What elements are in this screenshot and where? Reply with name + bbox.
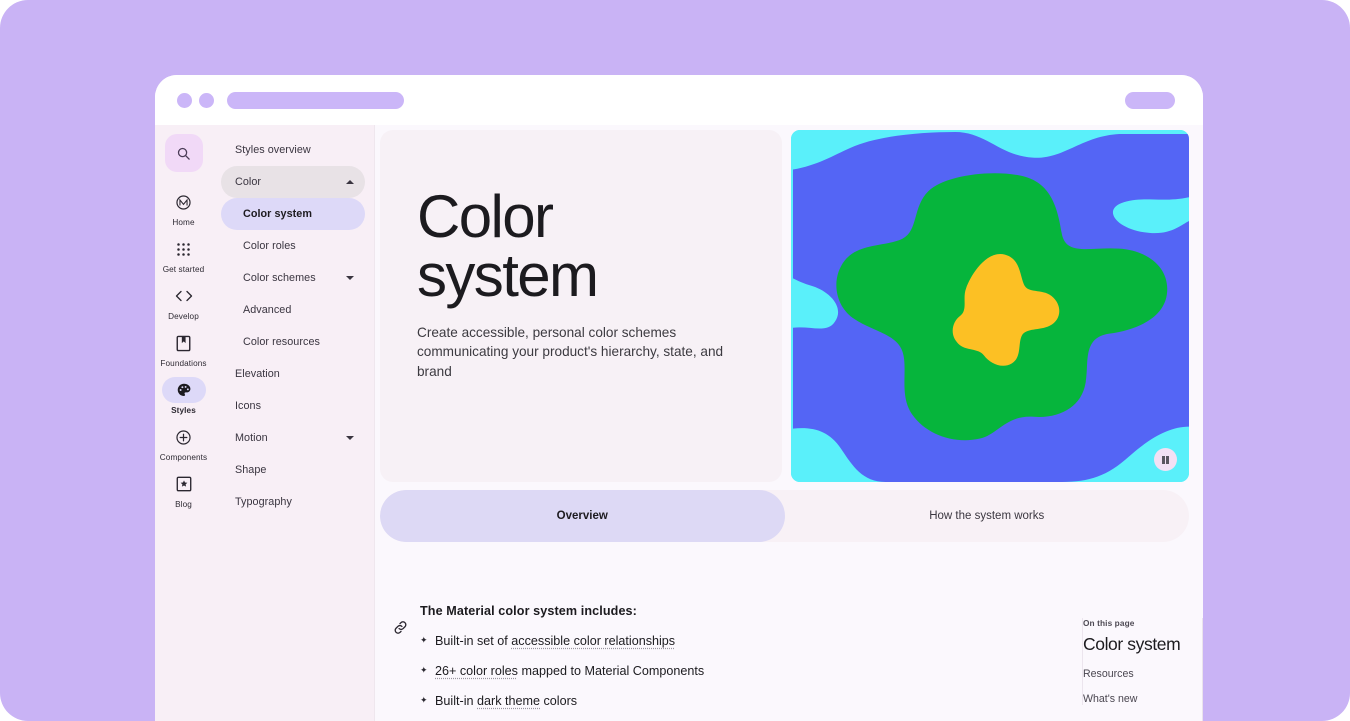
nav-item-color-roles[interactable]: Color roles bbox=[221, 230, 365, 262]
nav-item-color-system[interactable]: Color system bbox=[221, 198, 365, 230]
window-dot-2[interactable] bbox=[199, 93, 214, 108]
nav-item-color-schemes[interactable]: Color schemes bbox=[221, 262, 365, 294]
list-item-text: Built-in dark theme colors bbox=[435, 694, 577, 708]
nav-item-motion[interactable]: Motion bbox=[221, 422, 365, 454]
on-this-page-divider bbox=[1202, 618, 1203, 721]
star-square-icon bbox=[162, 471, 206, 497]
on-this-page-panel: On this page Color system Resources What… bbox=[1082, 618, 1189, 705]
app-body: Home Get started bbox=[155, 125, 1203, 721]
pause-icon bbox=[1161, 452, 1169, 467]
bullet-pre: Built-in bbox=[435, 694, 477, 708]
anchor-link-column bbox=[380, 600, 420, 708]
chevron-down-icon bbox=[346, 276, 354, 280]
rail-label-blog: Blog bbox=[175, 500, 192, 509]
chrome-right-pill[interactable] bbox=[1125, 92, 1175, 109]
bookmark-book-icon bbox=[162, 330, 206, 356]
nav-label: Typography bbox=[235, 496, 292, 508]
nav-item-shape[interactable]: Shape bbox=[221, 454, 365, 486]
bullet-post: colors bbox=[540, 694, 577, 708]
page-subtitle: Create accessible, personal color scheme… bbox=[417, 323, 729, 382]
bullet-link[interactable]: dark theme bbox=[477, 694, 540, 708]
rail-label-home: Home bbox=[172, 218, 194, 227]
plus-circle-icon bbox=[162, 424, 206, 450]
nav-item-typography[interactable]: Typography bbox=[221, 486, 365, 518]
code-brackets-icon bbox=[162, 283, 206, 309]
nav-label: Shape bbox=[235, 464, 266, 476]
rail-item-blog[interactable]: Blog bbox=[157, 471, 210, 509]
nav-label: Motion bbox=[235, 432, 268, 444]
bullet-link[interactable]: 26+ color roles bbox=[435, 664, 518, 678]
tab-label: Overview bbox=[557, 510, 608, 522]
blob-illustration bbox=[791, 130, 1189, 482]
rail-label-get-started: Get started bbox=[163, 265, 205, 274]
chevron-up-icon bbox=[346, 180, 354, 184]
nav-item-advanced[interactable]: Advanced bbox=[221, 294, 365, 326]
chevron-down-icon bbox=[346, 436, 354, 440]
nav-label: Color system bbox=[243, 208, 312, 220]
tab-overview[interactable]: Overview bbox=[380, 490, 785, 542]
nav-label: Color schemes bbox=[243, 272, 316, 284]
rail-item-home[interactable]: Home bbox=[157, 189, 210, 227]
nav-item-elevation[interactable]: Elevation bbox=[221, 358, 365, 390]
page-title-line-1: Color bbox=[417, 183, 552, 250]
rail-label-styles: Styles bbox=[171, 406, 196, 415]
search-icon bbox=[176, 146, 191, 161]
on-this-page-link-whats-new[interactable]: What's new bbox=[1083, 693, 1189, 705]
nav-item-icons[interactable]: Icons bbox=[221, 390, 365, 422]
bullet-marker: ✦ bbox=[420, 634, 435, 648]
bullet-pre: Built-in set of bbox=[435, 634, 511, 648]
hero-illustration bbox=[791, 130, 1189, 482]
pause-button[interactable] bbox=[1154, 448, 1177, 471]
rail-label-develop: Develop bbox=[168, 312, 199, 321]
tab-bar: Overview How the system works bbox=[380, 490, 1189, 542]
nav-label: Icons bbox=[235, 400, 261, 412]
page-title: Color system bbox=[417, 188, 782, 306]
rail-item-get-started[interactable]: Get started bbox=[157, 236, 210, 274]
tab-how-the-system-works[interactable]: How the system works bbox=[785, 490, 1190, 542]
browser-window: Home Get started bbox=[155, 75, 1203, 721]
list-item-text: 26+ color roles mapped to Material Compo… bbox=[435, 664, 704, 678]
rail-item-components[interactable]: Components bbox=[157, 424, 210, 462]
browser-chrome bbox=[155, 75, 1203, 125]
nav-label: Color bbox=[235, 176, 261, 188]
link-icon[interactable] bbox=[392, 619, 409, 636]
navigation-rail: Home Get started bbox=[155, 125, 212, 721]
main-content: Color system Create accessible, personal… bbox=[375, 125, 1203, 721]
list-item: ✦ 26+ color roles mapped to Material Com… bbox=[420, 664, 940, 678]
bullet-marker: ✦ bbox=[420, 694, 435, 708]
nav-label: Advanced bbox=[243, 304, 291, 316]
nav-item-styles-overview[interactable]: Styles overview bbox=[221, 134, 365, 166]
bullet-marker: ✦ bbox=[420, 664, 435, 678]
bullet-post: mapped to Material Components bbox=[518, 664, 704, 678]
search-button[interactable] bbox=[165, 134, 203, 172]
rail-item-develop[interactable]: Develop bbox=[157, 283, 210, 321]
address-bar[interactable] bbox=[227, 92, 404, 109]
nav-label: Color resources bbox=[243, 336, 320, 348]
article-heading: The Material color system includes: bbox=[420, 604, 940, 618]
article-area: The Material color system includes: ✦ Bu… bbox=[375, 600, 1203, 708]
tab-label: How the system works bbox=[929, 510, 1044, 522]
nav-item-color[interactable]: Color bbox=[221, 166, 365, 198]
rail-item-styles[interactable]: Styles bbox=[157, 377, 210, 415]
list-item-text: Built-in set of accessible color relatio… bbox=[435, 634, 675, 648]
list-item: ✦ Built-in dark theme colors bbox=[420, 694, 940, 708]
nav-item-color-resources[interactable]: Color resources bbox=[221, 326, 365, 358]
page-canvas: Home Get started bbox=[0, 0, 1350, 721]
rail-label-components: Components bbox=[160, 453, 207, 462]
rail-label-foundations: Foundations bbox=[160, 359, 206, 368]
hero-text-card: Color system Create accessible, personal… bbox=[380, 130, 782, 482]
material-logo-icon bbox=[162, 189, 206, 215]
bullet-link[interactable]: accessible color relationships bbox=[511, 634, 675, 648]
palette-icon bbox=[162, 377, 206, 403]
hero-section: Color system Create accessible, personal… bbox=[375, 125, 1203, 482]
secondary-navigation: Styles overview Color Color system Color… bbox=[212, 125, 375, 721]
nav-label: Color roles bbox=[243, 240, 296, 252]
on-this-page-link-resources[interactable]: Resources bbox=[1083, 668, 1189, 680]
page-title-line-2: system bbox=[417, 242, 597, 309]
on-this-page-kicker: On this page bbox=[1083, 618, 1189, 628]
nav-label: Styles overview bbox=[235, 144, 311, 156]
nav-label: Elevation bbox=[235, 368, 280, 380]
grid-dots-icon bbox=[162, 236, 206, 262]
window-dot-1[interactable] bbox=[177, 93, 192, 108]
article-body: The Material color system includes: ✦ Bu… bbox=[420, 600, 940, 708]
on-this-page-title: Color system bbox=[1083, 634, 1189, 655]
rail-item-foundations[interactable]: Foundations bbox=[157, 330, 210, 368]
list-item: ✦ Built-in set of accessible color relat… bbox=[420, 634, 940, 648]
